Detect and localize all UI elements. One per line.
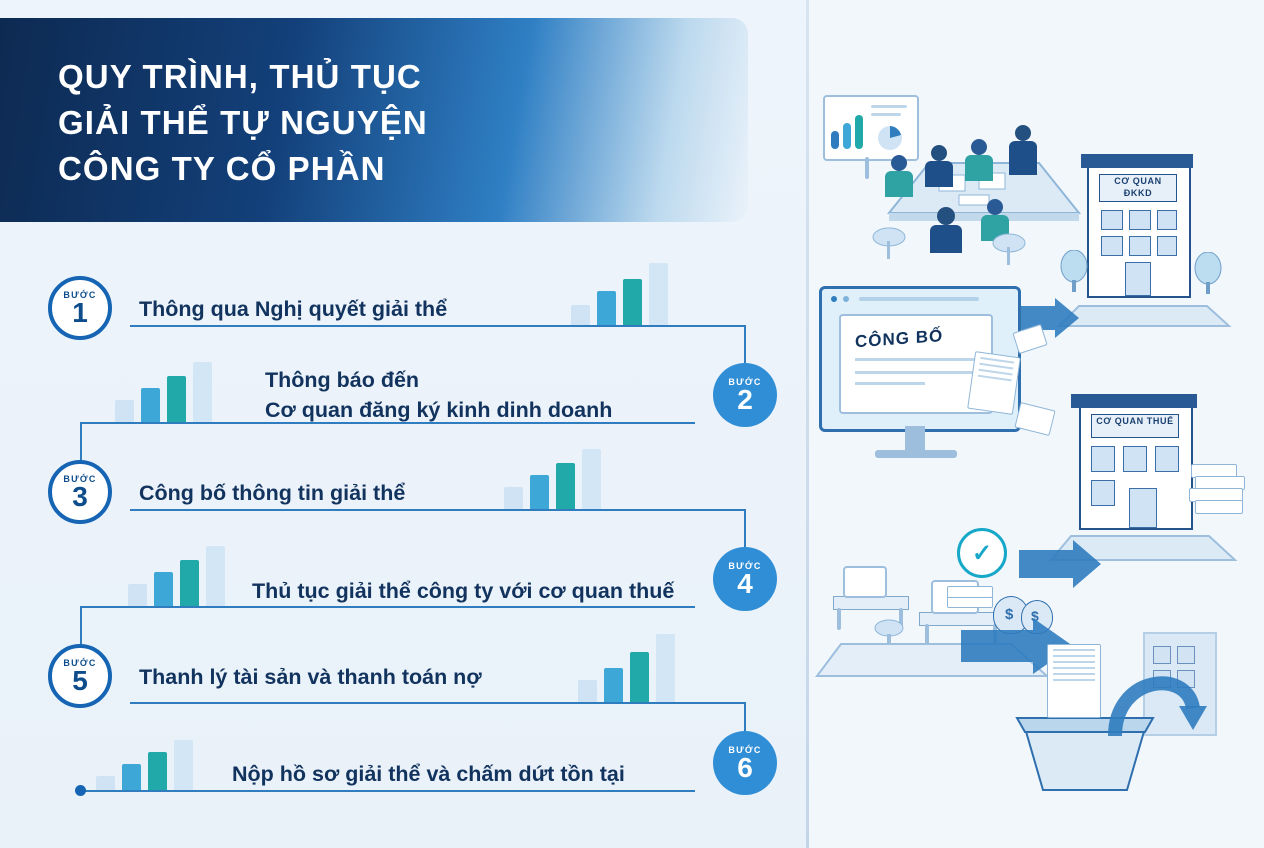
building-1-window bbox=[1157, 210, 1177, 230]
step-3-badge: BƯỚC 3 bbox=[48, 460, 112, 524]
title-line-1: QUY TRÌNH, THỦ TỤC bbox=[58, 54, 718, 100]
person-3 bbox=[971, 139, 993, 181]
desk-monitor bbox=[843, 566, 887, 598]
step-5-text: Thanh lý tài sản và thanh toán nợ bbox=[139, 663, 482, 692]
building-2-roof bbox=[1071, 394, 1197, 408]
step-5-bar-chart bbox=[578, 634, 675, 702]
monitor-stand bbox=[905, 426, 925, 452]
bar bbox=[115, 400, 134, 422]
step-3-connector-line bbox=[130, 509, 745, 511]
step-4-to-5-vertical bbox=[80, 606, 82, 644]
tree-icon bbox=[1059, 250, 1089, 294]
bar bbox=[141, 388, 160, 422]
cash-stack bbox=[947, 586, 993, 598]
whiteboard-pie-icon bbox=[877, 125, 903, 151]
whiteboard-line-1 bbox=[871, 105, 907, 108]
title-line-3: CÔNG TY CỔ PHẦN bbox=[58, 146, 718, 192]
building-2-window bbox=[1155, 446, 1179, 472]
desk-leg bbox=[837, 608, 841, 630]
bar bbox=[656, 634, 675, 702]
bar bbox=[206, 546, 225, 606]
step-4-connector-line bbox=[80, 606, 695, 608]
building-1-window bbox=[1129, 210, 1151, 230]
bar bbox=[180, 560, 199, 606]
title-banner: QUY TRÌNH, THỦ TỤC GIẢI THỂ TỰ NGUYỆN CÔ… bbox=[0, 18, 748, 222]
bar bbox=[154, 572, 173, 606]
step-5-connector-line bbox=[130, 702, 745, 704]
step-6-badge: BƯỚC 6 bbox=[713, 731, 777, 795]
bar bbox=[604, 668, 623, 702]
bar bbox=[128, 584, 147, 606]
step-1-badge: BƯỚC 1 bbox=[48, 276, 112, 340]
step-2-text: Thông báo đến Cơ quan đăng ký kinh dinh … bbox=[265, 365, 612, 425]
building-1-roof bbox=[1081, 154, 1193, 168]
building-2-window bbox=[1091, 480, 1115, 506]
whiteboard-line-2 bbox=[871, 113, 901, 116]
person-2 bbox=[931, 145, 953, 187]
step-1-to-2-vertical bbox=[744, 325, 746, 363]
step-2-number: 2 bbox=[737, 386, 753, 414]
monitor-base bbox=[875, 450, 957, 458]
bar bbox=[649, 263, 668, 325]
building-2-sign-text: CƠ QUAN THUẾ bbox=[1092, 415, 1178, 427]
step-2-text-line-2: Cơ quan đăng ký kinh dinh doanh bbox=[265, 395, 612, 425]
monitor-titlebar-line bbox=[859, 297, 979, 301]
building-1-window bbox=[1101, 210, 1123, 230]
bar bbox=[556, 463, 575, 509]
chairs bbox=[859, 207, 1069, 277]
step-4-number: 4 bbox=[737, 570, 753, 598]
step-4-bar-chart bbox=[128, 546, 225, 606]
tax-authority-building: CƠ QUAN THUẾ bbox=[1049, 372, 1249, 562]
tree-icon bbox=[1193, 252, 1223, 296]
step-6-text: Nộp hồ sơ giải thể và chấm dứt tồn tại bbox=[232, 760, 625, 789]
step-2-bar-chart bbox=[115, 362, 212, 422]
person-1 bbox=[891, 155, 913, 197]
step-6-number: 6 bbox=[737, 754, 753, 782]
step-6-bar-chart bbox=[96, 740, 193, 790]
bar bbox=[174, 740, 193, 790]
monitor-titlebar-dot bbox=[843, 296, 849, 302]
whiteboard-bar-3 bbox=[855, 115, 863, 149]
bar bbox=[578, 680, 597, 702]
flying-paper bbox=[967, 351, 1021, 415]
bar bbox=[571, 305, 590, 325]
building-2-window bbox=[1123, 446, 1147, 472]
step-1-connector-line bbox=[130, 325, 745, 327]
archived-document bbox=[1047, 644, 1101, 718]
step-1-text: Thông qua Nghị quyết giải thể bbox=[139, 295, 447, 324]
building-2-sign: CƠ QUAN THUẾ bbox=[1091, 414, 1179, 438]
building-1-window bbox=[1157, 236, 1177, 256]
bar bbox=[96, 776, 115, 790]
monitor-titlebar-dot bbox=[831, 296, 837, 302]
step-4-badge: BƯỚC 4 bbox=[713, 547, 777, 611]
announcement-monitor: CÔNG BỐ bbox=[819, 286, 1049, 486]
step-5-badge: BƯỚC 5 bbox=[48, 644, 112, 708]
file-archive-scene bbox=[1005, 620, 1245, 820]
building-1-sign-text: CƠ QUAN ĐKKD bbox=[1100, 175, 1176, 199]
step-2-text-line-1: Thông báo đến bbox=[265, 365, 612, 395]
step-1-bar-chart bbox=[571, 263, 668, 325]
person-4 bbox=[1015, 125, 1037, 175]
building-1-sign: CƠ QUAN ĐKKD bbox=[1099, 174, 1177, 202]
bar bbox=[148, 752, 167, 790]
step-3-text: Công bố thông tin giải thể bbox=[139, 479, 405, 508]
page-title: QUY TRÌNH, THỦ TỤC GIẢI THỂ TỰ NGUYỆN CÔ… bbox=[58, 54, 718, 192]
paper-stack bbox=[1195, 500, 1243, 514]
bar bbox=[530, 475, 549, 509]
building-1-window bbox=[1101, 236, 1123, 256]
step-3-bar-chart bbox=[504, 449, 601, 509]
bar bbox=[167, 376, 186, 422]
step-1-number: 1 bbox=[72, 299, 88, 327]
left-content-panel: QUY TRÌNH, THỦ TỤC GIẢI THỂ TỰ NGUYỆN CÔ… bbox=[0, 0, 806, 848]
step-2-connector-line bbox=[80, 422, 695, 424]
timeline-end-dot bbox=[75, 785, 86, 796]
step-3-to-4-vertical bbox=[744, 509, 746, 547]
bar bbox=[122, 764, 141, 790]
step-4-text: Thủ tục giải thể công ty với cơ quan thu… bbox=[252, 577, 674, 606]
whiteboard-bar-2 bbox=[843, 123, 851, 149]
bar bbox=[623, 279, 642, 325]
title-line-2: GIẢI THỂ TỰ NGUYỆN bbox=[58, 100, 718, 146]
bar bbox=[582, 449, 601, 509]
step-6-connector-line bbox=[80, 790, 695, 792]
bar bbox=[504, 487, 523, 509]
building-2-window bbox=[1091, 446, 1115, 472]
step-2-badge: BƯỚC 2 bbox=[713, 363, 777, 427]
bar bbox=[630, 652, 649, 702]
monitor-document-title: CÔNG BỐ bbox=[855, 324, 977, 353]
bar bbox=[193, 362, 212, 422]
curved-arrow-icon bbox=[1101, 654, 1211, 764]
desk bbox=[833, 596, 909, 610]
whiteboard-bar-1 bbox=[831, 131, 839, 149]
check-badge: ✓ bbox=[957, 528, 1007, 578]
building-1-window bbox=[1129, 236, 1151, 256]
illustration-panel: MISASME2026 bbox=[809, 0, 1264, 848]
step-3-number: 3 bbox=[72, 483, 88, 511]
step-5-number: 5 bbox=[72, 667, 88, 695]
check-mark-icon: ✓ bbox=[972, 539, 992, 568]
bar bbox=[597, 291, 616, 325]
step-2-to-3-vertical bbox=[80, 422, 82, 460]
